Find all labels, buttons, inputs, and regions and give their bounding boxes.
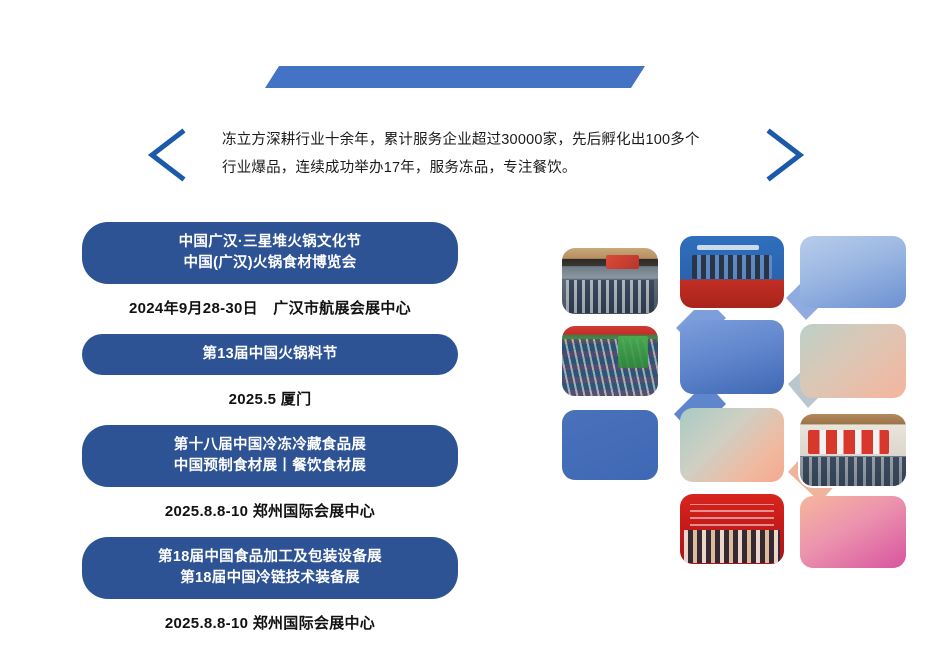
event-pill-4-line-1: 第18届中国食品加工及包装设备展 <box>96 547 444 568</box>
photo-forum-stage-image <box>680 236 784 308</box>
event-pill-3[interactable]: 第十八届中国冷冻冷藏食品展 中国预制食材展丨餐饮食材展 <box>82 425 458 487</box>
event-pill-1[interactable]: 中国广汉·三星堆火锅文化节 中国(广汉)火锅食材博览会 <box>82 222 458 284</box>
photo-forum-stage <box>680 236 784 308</box>
photo-expo-crowd <box>562 326 658 396</box>
event-caption-2: 2025.5 厦门 <box>82 388 458 409</box>
event-pill-3-line-2: 中国预制食材展丨餐饮食材展 <box>96 456 444 477</box>
photo-collage <box>556 236 916 576</box>
event-pill-2[interactable]: 第13届中国火锅料节 <box>82 334 458 375</box>
chevron-right-icon <box>762 124 810 186</box>
tile-sage-peach <box>800 324 906 398</box>
intro-paragraph: 冻立方深耕行业十余年，累计服务企业超过30000家，先后孵化出100多个 行业爆… <box>222 126 742 182</box>
tile-blue-solid <box>562 410 658 480</box>
tile-blue-mid <box>680 320 784 394</box>
event-pill-2-line-1: 第13届中国火锅料节 <box>96 344 444 365</box>
event-pill-3-line-1: 第十八届中国冷冻冷藏食品展 <box>96 435 444 456</box>
photo-award-ceremony-image <box>680 494 784 564</box>
photo-conference-hall <box>562 248 658 314</box>
event-caption-4: 2025.8.8-10 郑州国际会展中心 <box>82 612 458 633</box>
event-pill-4[interactable]: 第18届中国食品加工及包装设备展 第18届中国冷链技术装备展 <box>82 537 458 599</box>
tile-peach-pink <box>800 496 906 568</box>
photo-seminar-room <box>800 414 906 486</box>
tile-teal-peach <box>680 408 784 482</box>
photo-conference-hall-image <box>562 248 658 314</box>
event-pill-4-line-2: 第18届中国冷链技术装备展 <box>96 568 444 589</box>
tile-blue-light <box>800 236 906 308</box>
intro-line-1: 冻立方深耕行业十余年，累计服务企业超过30000家，先后孵化出100多个 <box>222 126 742 154</box>
photo-seminar-room-image <box>800 414 906 486</box>
header-ribbon <box>265 66 645 88</box>
intro-line-2: 行业爆品，连续成功举办17年，服务冻品，专注餐饮。 <box>222 154 742 182</box>
event-pill-1-line-1: 中国广汉·三星堆火锅文化节 <box>96 232 444 253</box>
event-list: 中国广汉·三星堆火锅文化节 中国(广汉)火锅食材博览会 2024年9月28-30… <box>82 222 458 649</box>
chevron-left-icon <box>142 124 190 186</box>
photo-award-ceremony <box>680 494 784 564</box>
poster-page: 冻立方深耕行业十余年，累计服务企业超过30000家，先后孵化出100多个 行业爆… <box>0 0 932 659</box>
event-caption-3: 2025.8.8-10 郑州国际会展中心 <box>82 500 458 521</box>
event-pill-1-line-2: 中国(广汉)火锅食材博览会 <box>96 253 444 274</box>
photo-expo-crowd-image <box>562 326 658 396</box>
event-caption-1: 2024年9月28-30日 广汉市航展会展中心 <box>82 297 458 318</box>
